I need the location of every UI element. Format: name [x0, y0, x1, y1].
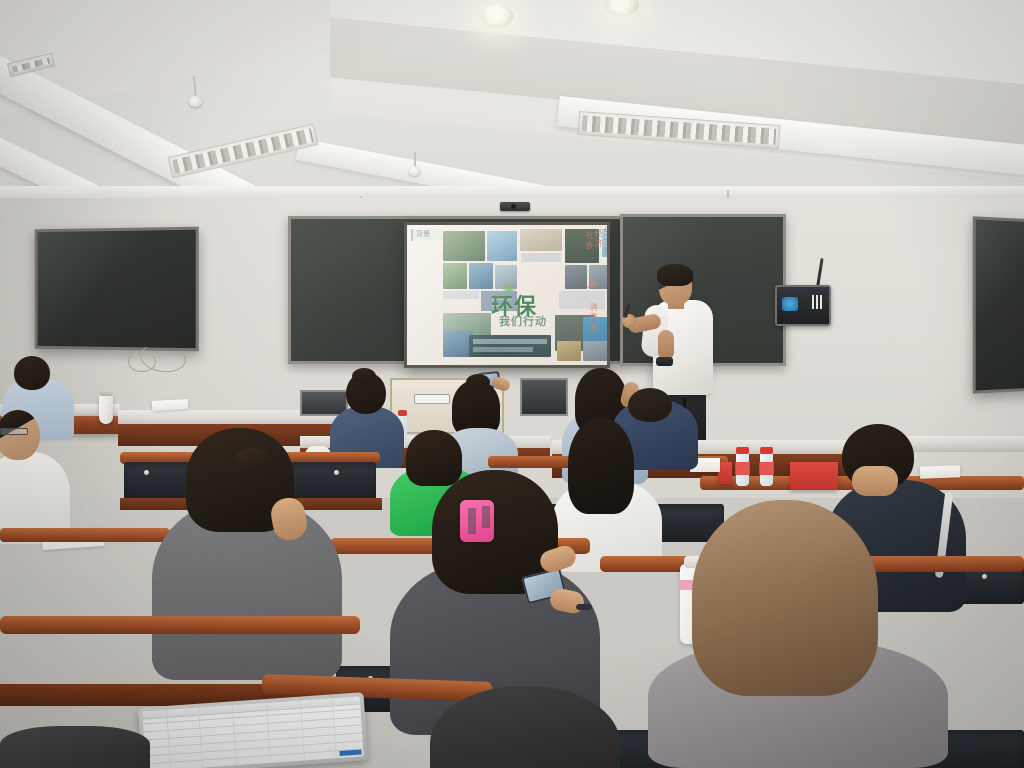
paper-documents [152, 399, 188, 411]
wrist-band [576, 604, 592, 610]
slide-glare [407, 225, 607, 365]
student-white-blouse-hair [568, 418, 634, 514]
water-bottle-1-label [735, 462, 750, 475]
laptop-screen [142, 696, 364, 768]
sprinkler-2-icon [409, 166, 420, 176]
ceiling-camera-icon [500, 202, 530, 211]
classroom-photo: 背景 [0, 0, 1024, 768]
student-navy-back-head [628, 388, 672, 422]
bench-row3-rail [0, 616, 360, 634]
sprinkler-1-icon [189, 96, 202, 107]
water-bottle-2-cap [760, 447, 773, 454]
slide-photo [609, 335, 610, 361]
student-foreground-left-hair [0, 726, 150, 768]
student-light-hair-hair [692, 500, 878, 696]
pink-hair-clip-slot [468, 508, 476, 534]
bench-row2l-rail [0, 528, 170, 542]
panel-qr-code-icon [810, 295, 824, 309]
wall-vent-right [520, 378, 568, 416]
tv-left-cable-2 [128, 352, 156, 372]
thermos-cap [99, 390, 113, 396]
presenter-arm-back [658, 330, 674, 360]
troffer-2-icon [167, 123, 318, 178]
panel-graphic-icon [782, 297, 798, 311]
ceiling [0, 0, 1024, 215]
slide-photo [607, 291, 610, 325]
tv-left[interactable] [35, 227, 199, 352]
steel-thermos [99, 392, 113, 424]
student-green-top-hair [406, 430, 462, 486]
student-gray-tshirt-bun [236, 448, 270, 470]
red-name-card-1 [718, 462, 732, 484]
student-navy-bun-hairbun [352, 368, 376, 384]
water-bottle-2-label [759, 462, 774, 475]
presenter-smartwatch [656, 357, 673, 366]
wall-control-panel[interactable] [775, 285, 831, 326]
student-back-left-glasses-head [0, 410, 40, 460]
pink-hair-clip-slot-2 [482, 506, 490, 528]
water-bottle-1-cap [736, 447, 749, 454]
paper-documents [920, 465, 960, 478]
projection-screen: 背景 [404, 222, 610, 368]
student-center-hairbun [466, 374, 490, 390]
downlight-1-icon [481, 4, 513, 28]
notice-board-label [414, 394, 450, 404]
student-dark-jacket-neck [852, 466, 898, 496]
red-name-card-2 [790, 462, 838, 490]
water-bottle-front-cap [398, 410, 407, 416]
glasses-icon [0, 428, 28, 435]
tv-right[interactable] [973, 216, 1024, 393]
presentation-slide: 背景 [407, 225, 607, 365]
student-back-left-blue-head [14, 356, 50, 390]
presenter-hair [657, 264, 693, 286]
